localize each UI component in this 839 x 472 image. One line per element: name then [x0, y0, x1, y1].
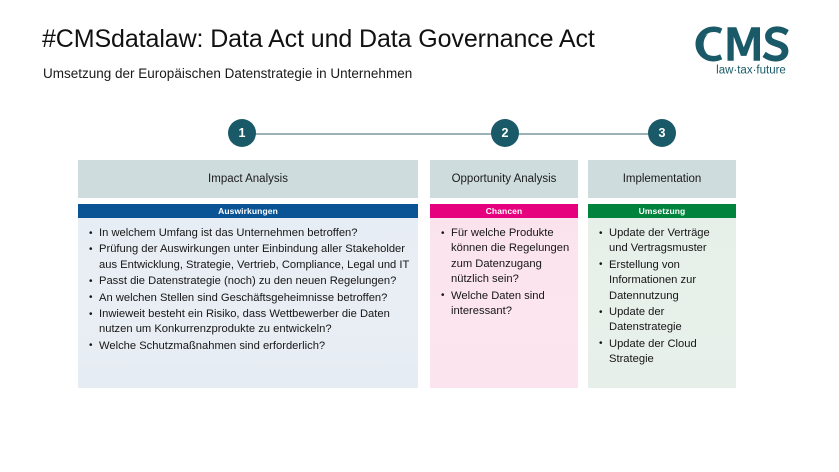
list-item: Für welche Produkte können die Regelunge…: [440, 226, 572, 288]
phase-column-opportunity-analysis: Opportunity Analysis Chancen Für welche …: [430, 160, 578, 388]
page-subtitle: Umsetzung der Europäischen Datenstrategi…: [43, 66, 412, 81]
column-bar-umsetzung: Umsetzung: [588, 204, 736, 218]
bullet-list-opportunity-analysis: Für welche Produkte können die Regelunge…: [440, 226, 572, 319]
column-body-opportunity-analysis: Für welche Produkte können die Regelunge…: [430, 218, 578, 388]
step-marker-1[interactable]: 1: [228, 119, 256, 147]
list-item: Update der Datenstrategie: [598, 305, 730, 336]
column-body-impact-analysis: In welchem Umfang ist das Unternehmen be…: [78, 218, 418, 388]
column-heading-impact-analysis: Impact Analysis: [78, 160, 418, 198]
list-item: Erstellung von Informationen zur Datennu…: [598, 258, 730, 304]
column-bar-chancen: Chancen: [430, 204, 578, 218]
list-item: Passt die Datenstrategie (noch) zu den n…: [88, 274, 412, 289]
page-title: #CMSdatalaw: Data Act und Data Governanc…: [42, 25, 595, 54]
slide-canvas: #CMSdatalaw: Data Act und Data Governanc…: [0, 0, 839, 472]
phase-columns: Impact Analysis Auswirkungen In welchem …: [78, 160, 763, 388]
list-item: Update der Verträge und Vertragsmuster: [598, 226, 730, 257]
cms-logo: law·tax·future: [691, 22, 811, 78]
column-heading-opportunity-analysis: Opportunity Analysis: [430, 160, 578, 198]
rail-connector-1-2: [252, 133, 500, 135]
step-rail: 1 2 3: [228, 116, 676, 152]
list-item: Welche Daten sind interessant?: [440, 289, 572, 320]
step-marker-3[interactable]: 3: [648, 119, 676, 147]
phase-column-implementation: Implementation Umsetzung Update der Vert…: [588, 160, 736, 388]
list-item: Update der Cloud Strategie: [598, 337, 730, 368]
column-bar-auswirkungen: Auswirkungen: [78, 204, 418, 218]
logo-tagline: law·tax·future: [716, 65, 786, 77]
rail-connector-2-3: [518, 133, 650, 135]
list-item: In welchem Umfang ist das Unternehmen be…: [88, 226, 412, 241]
bullet-list-implementation: Update der Verträge und Vertragsmuster E…: [598, 226, 730, 368]
list-item: Prüfung der Auswirkungen unter Einbindun…: [88, 242, 412, 273]
column-body-implementation: Update der Verträge und Vertragsmuster E…: [588, 218, 736, 388]
column-heading-implementation: Implementation: [588, 160, 736, 198]
bullet-list-impact-analysis: In welchem Umfang ist das Unternehmen be…: [88, 226, 412, 354]
list-item: Welche Schutzmaßnahmen sind erforderlich…: [88, 339, 412, 354]
list-item: Inwieweit besteht ein Risiko, dass Wettb…: [88, 307, 412, 338]
phase-column-impact-analysis: Impact Analysis Auswirkungen In welchem …: [78, 160, 418, 388]
list-item: An welchen Stellen sind Geschäftsgeheimn…: [88, 291, 412, 306]
step-marker-2[interactable]: 2: [491, 119, 519, 147]
